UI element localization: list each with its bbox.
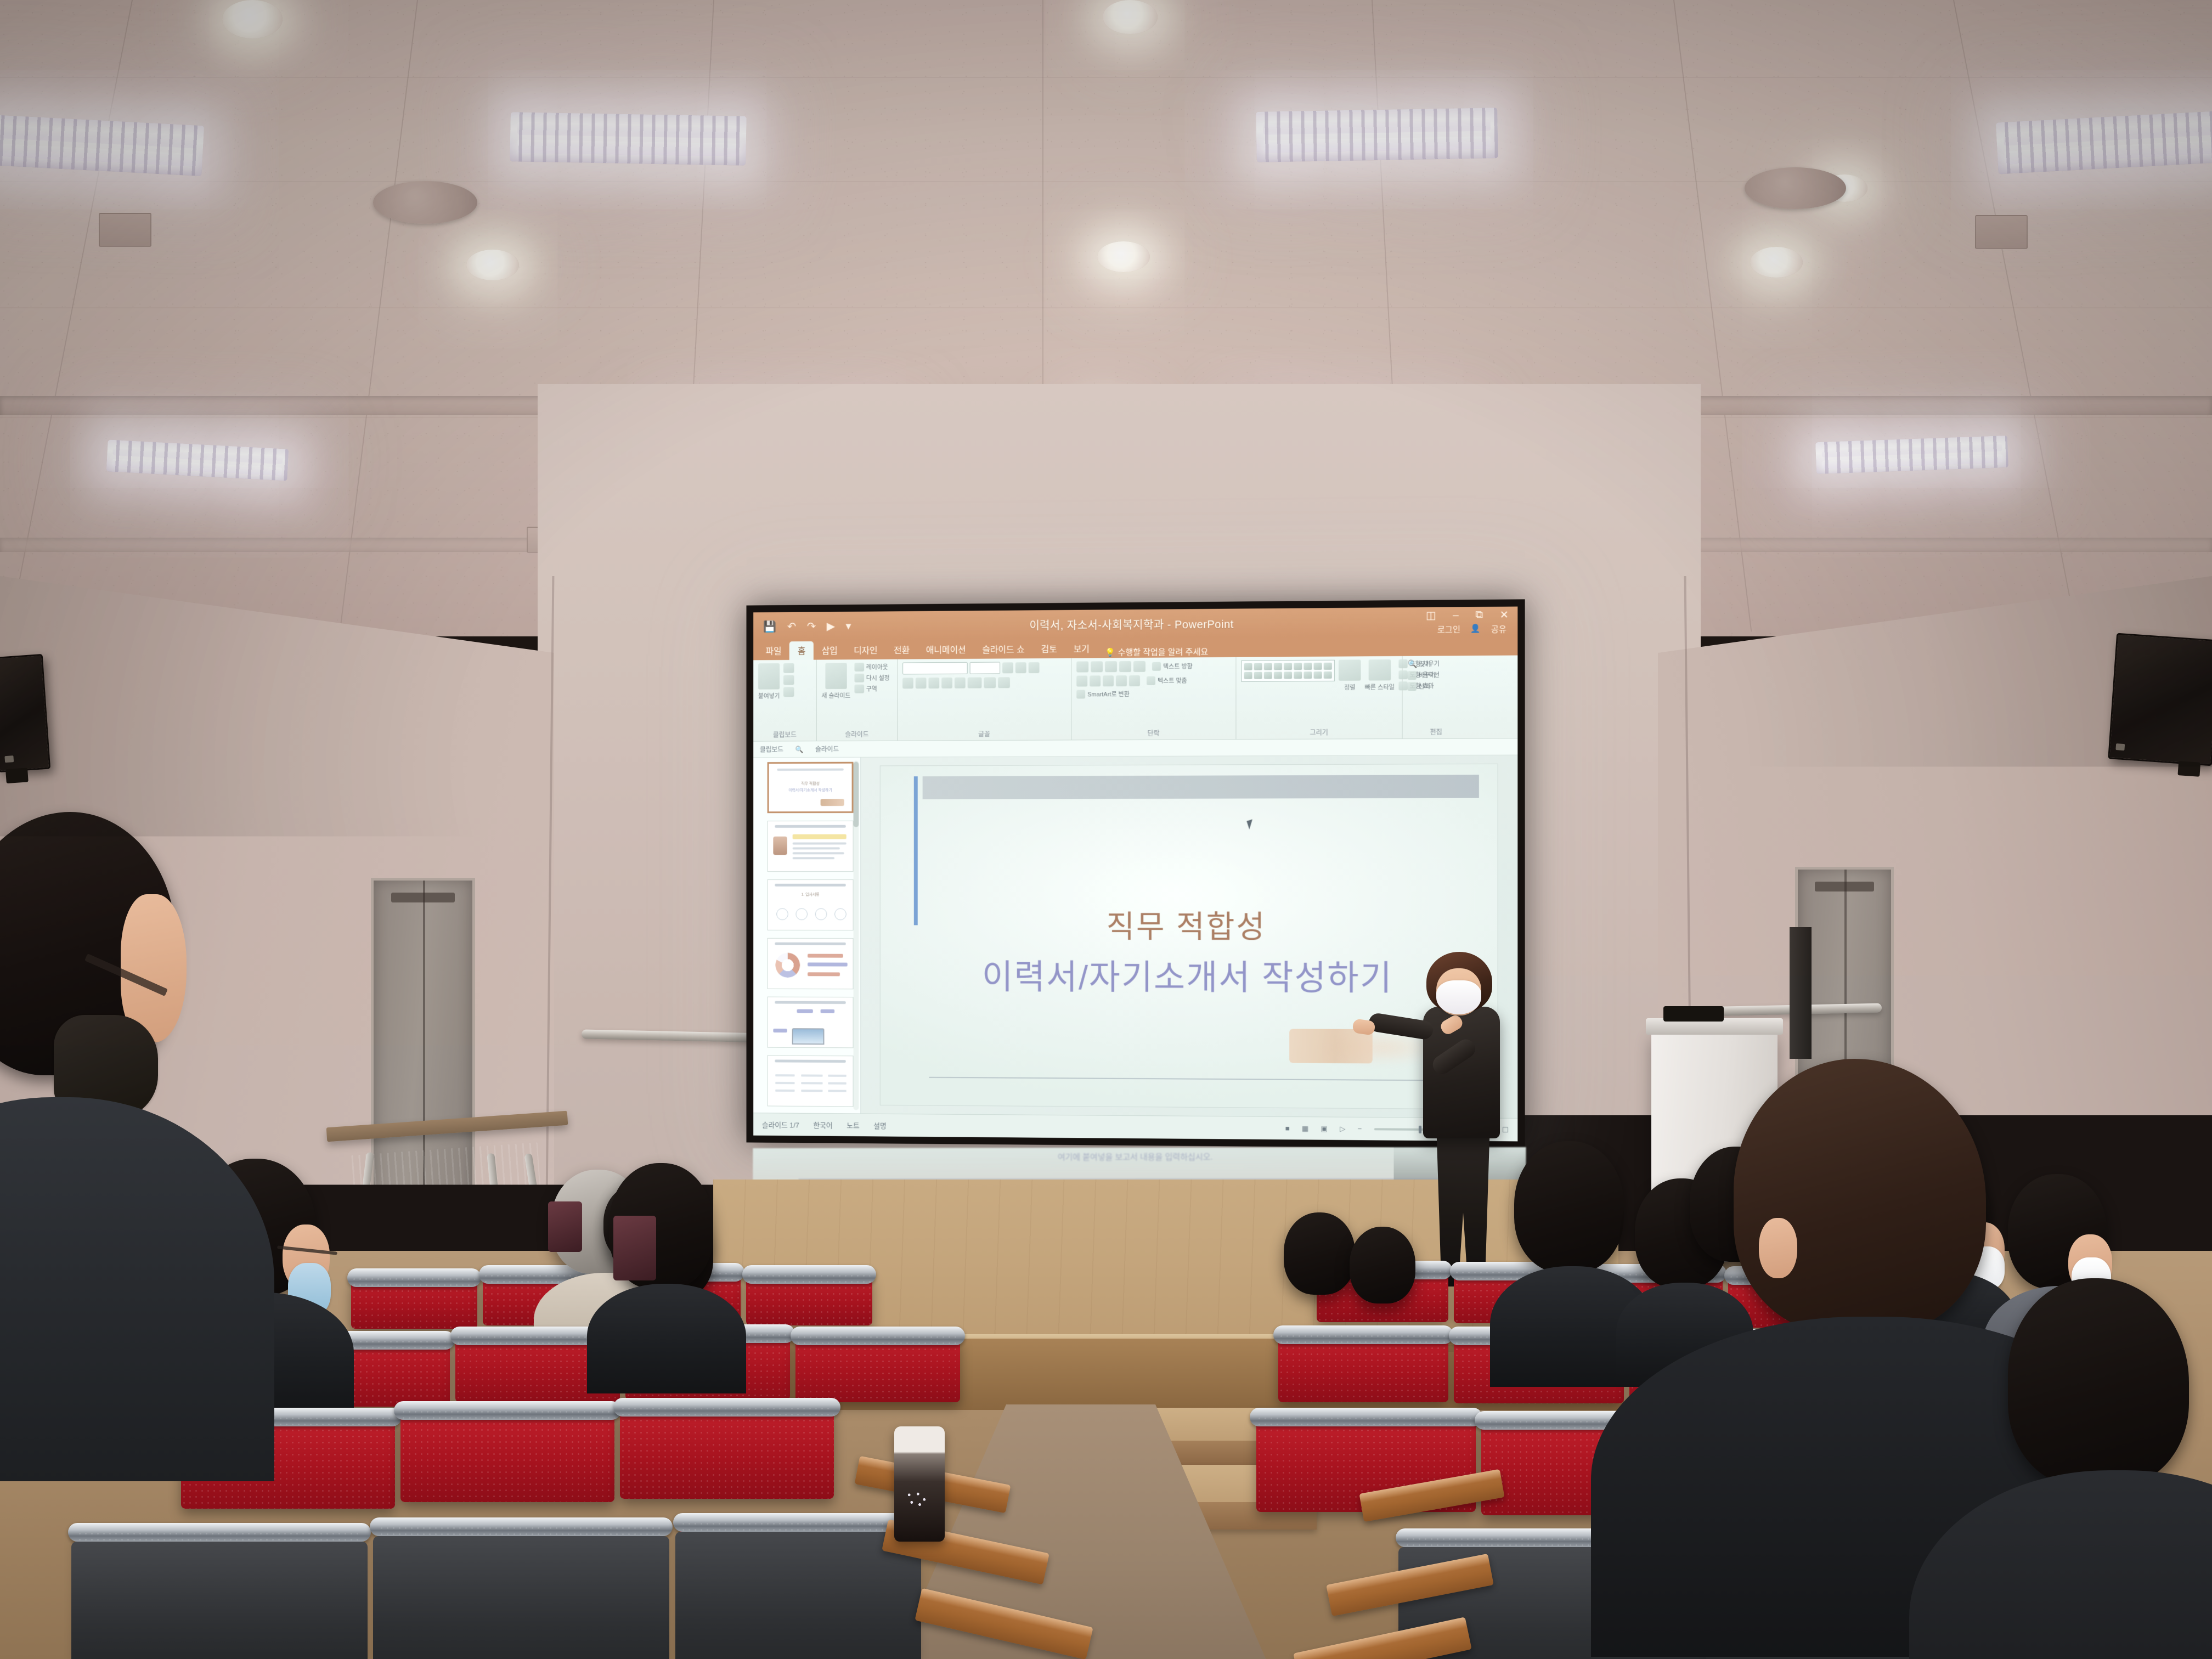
tab-review[interactable]: 검토 — [1033, 640, 1065, 658]
shape-chevron-icon[interactable] — [1264, 672, 1272, 679]
line-spacing-icon[interactable] — [1133, 661, 1145, 672]
decrease-font-size-icon[interactable] — [1015, 662, 1026, 673]
tab-transitions[interactable]: 전환 — [885, 641, 918, 659]
group-label-paragraph: 단락 — [1071, 728, 1235, 738]
tab-view[interactable]: 보기 — [1065, 639, 1098, 658]
seat[interactable] — [746, 1273, 872, 1325]
wall-speaker-left — [0, 654, 50, 772]
zoom-out-icon[interactable]: − — [1358, 1125, 1362, 1133]
powerpoint-workspace: 1 직무 적합성 이력서/자기소개서 작성하기 2 — [753, 755, 1517, 1118]
slide-title-text[interactable]: 직무 적합성 — [881, 901, 1498, 947]
section-icon[interactable] — [854, 685, 864, 693]
microphone-icon — [1663, 1006, 1724, 1022]
tab-slideshow[interactable]: 슬라이드 쇼 — [974, 640, 1032, 659]
seat[interactable] — [379, 1525, 664, 1659]
table-modesty-panel — [351, 1142, 540, 1204]
laptop-icon — [792, 1028, 825, 1045]
align-left-icon[interactable] — [1076, 675, 1087, 686]
justify-icon[interactable] — [1116, 675, 1127, 686]
increase-indent-icon[interactable] — [1119, 661, 1131, 672]
thumbnail-scrollbar-thumb[interactable] — [854, 762, 859, 827]
layout-icon[interactable] — [854, 663, 864, 672]
clipboard-strip: 클립보드 🔍 슬라이드 — [753, 738, 1517, 758]
donut-chart-icon — [775, 952, 800, 978]
cut-icon[interactable] — [783, 663, 794, 673]
wall-speaker-right — [2108, 633, 2212, 766]
change-case-icon[interactable] — [984, 677, 996, 688]
ribbon-display-icon[interactable]: ◫ — [1426, 610, 1436, 622]
paste-label: 붙여넣기 — [758, 691, 780, 700]
tell-me-placeholder: 수행할 작업을 알려 주세요 — [1118, 647, 1208, 657]
powerpoint-window: 💾 ↶ ↷ ▶ ▾ 이력서, 자소서-사회복지학과 - PowerPoint ◫… — [753, 607, 1517, 1142]
align-text-icon[interactable] — [1147, 676, 1155, 685]
slides-pane-label: 슬라이드 — [815, 744, 839, 754]
slide-header-band — [923, 775, 1479, 799]
slide-sorter-icon[interactable]: ▦ — [1302, 1124, 1308, 1133]
select-icon[interactable] — [1408, 682, 1417, 691]
underline-icon[interactable] — [928, 678, 939, 689]
find-label[interactable]: 찾기 — [1419, 659, 1431, 668]
speaker-bracket — [2177, 761, 2200, 777]
align-text-label: 텍스트 맞춤 — [1158, 676, 1187, 685]
group-label-clipboard: 클립보드 — [753, 730, 816, 739]
lightbulb-icon: 💡 — [1105, 648, 1116, 657]
speaker-led-indicator — [4, 755, 14, 763]
ceiling-speaker — [373, 181, 477, 224]
slide-thumbnail-4[interactable]: 4 — [768, 938, 854, 990]
ceiling-downlight — [466, 250, 519, 280]
shoulders — [587, 1284, 746, 1393]
strikethrough-icon[interactable] — [955, 678, 966, 689]
replace-label[interactable]: 바꾸기 — [1419, 671, 1436, 680]
group-label-font: 글꼴 — [898, 729, 1071, 738]
speaker-led-indicator — [2115, 743, 2125, 751]
presenter — [1404, 952, 1531, 1292]
table-caster — [487, 1228, 505, 1241]
close-icon[interactable]: ✕ — [1500, 609, 1509, 622]
shape-oval-icon[interactable] — [1294, 663, 1302, 670]
seat[interactable] — [680, 1521, 916, 1659]
comments-button[interactable]: 설명 — [873, 1120, 887, 1131]
ribbon-group-editing[interactable]: 🔍찾기 바꾸기 선택 편집 — [1403, 656, 1470, 738]
replace-icon[interactable] — [1408, 671, 1417, 680]
ceiling-downlight — [1097, 241, 1150, 272]
language-indicator[interactable]: 한국어 — [813, 1120, 832, 1130]
tab-animations[interactable]: 애니메이션 — [918, 640, 974, 659]
slide-thumbnail-pane[interactable]: 1 직무 적합성 이력서/자기소개서 작성하기 2 — [753, 758, 861, 1114]
clear-formatting-icon[interactable] — [1029, 662, 1040, 673]
columns-icon[interactable] — [1129, 675, 1140, 686]
shape-star-icon[interactable] — [1274, 672, 1282, 679]
slide-thumbnail-6[interactable]: 6 — [768, 1055, 854, 1107]
seat[interactable] — [795, 1334, 960, 1402]
ribbon-group-font[interactable]: 글꼴 — [898, 658, 1071, 741]
italic-icon[interactable] — [916, 678, 927, 689]
shape-line-icon[interactable] — [1264, 663, 1272, 670]
key-icon — [1289, 1029, 1373, 1063]
mouse-cursor-icon — [1247, 819, 1256, 830]
head — [1350, 1227, 1415, 1304]
shape-trapezoid-icon[interactable] — [1324, 663, 1332, 670]
ceiling-air-vent — [1975, 215, 2028, 249]
align-right-icon[interactable] — [1103, 675, 1114, 686]
section-label: 구역 — [866, 685, 877, 693]
arrange-label: 정렬 — [1344, 683, 1355, 692]
podium-support-post — [1790, 927, 1812, 1059]
head — [1284, 1212, 1355, 1295]
reading-view-icon[interactable]: ▣ — [1321, 1124, 1327, 1133]
key-icon — [821, 799, 844, 806]
shape-gallery[interactable] — [1241, 660, 1334, 682]
copy-icon[interactable] — [783, 675, 794, 685]
group-label-editing: 편집 — [1403, 727, 1470, 737]
ceiling-light-troffer — [1256, 108, 1498, 162]
restore-icon[interactable]: ⧉ — [1475, 609, 1483, 622]
shape-rect-icon[interactable] — [1244, 663, 1252, 670]
ceiling-speaker — [1745, 167, 1846, 209]
slide-indicator: 슬라이드 1/7 — [762, 1119, 799, 1130]
find-icon[interactable]: 🔍 — [1408, 659, 1418, 669]
align-center-icon[interactable] — [1090, 675, 1101, 686]
font-name-combobox[interactable] — [902, 662, 968, 675]
arrange-icon[interactable] — [1339, 659, 1361, 680]
portrait-photo-icon — [773, 837, 787, 855]
smartart-label: SmartArt로 변환 — [1087, 690, 1130, 698]
seat[interactable] — [1278, 1333, 1448, 1402]
slide-thumbnail-5[interactable]: 5 — [768, 997, 854, 1048]
shape-parallelogram-icon[interactable] — [1314, 663, 1322, 670]
shape-rounded-icon[interactable] — [1254, 663, 1262, 670]
ceiling-light-troffer — [1815, 436, 2008, 474]
minimize-icon[interactable]: ‒ — [1453, 609, 1459, 622]
increase-font-size-icon[interactable] — [1002, 662, 1013, 673]
reset-label: 다시 설정 — [866, 674, 890, 682]
ribbon[interactable]: 붙여넣기 클립보드 새 슬라이드 — [753, 656, 1517, 742]
hair-clip — [613, 1216, 656, 1280]
select-label[interactable]: 선택 — [1419, 682, 1430, 691]
reset-icon[interactable] — [854, 674, 864, 682]
text-direction-icon[interactable] — [1152, 662, 1161, 671]
powerpoint-title-bar: 💾 ↶ ↷ ▶ ▾ 이력서, 자소서-사회복지학과 - PowerPoint ◫… — [753, 607, 1517, 641]
ceiling-air-vent — [99, 213, 151, 247]
thumb-subtitle-text: 이력서/자기소개서 작성하기 — [769, 787, 852, 793]
paste-icon[interactable] — [758, 663, 780, 690]
numbering-icon[interactable] — [1091, 661, 1103, 672]
sign-in-label[interactable]: 로그인 — [1437, 624, 1460, 635]
slide-thumbnail-1[interactable]: 1 직무 적합성 이력서/자기소개서 작성하기 — [768, 762, 854, 814]
clipboard-pane-label: 클립보드 — [760, 744, 783, 754]
presenter-face-mask — [1436, 980, 1481, 1014]
water-bottle[interactable] — [894, 1426, 945, 1542]
share-icon[interactable]: 👤 — [1470, 623, 1481, 635]
ceiling-downlight — [1103, 0, 1158, 34]
account-area[interactable]: 로그인 👤 공유 — [1437, 623, 1506, 635]
ear — [1759, 1218, 1797, 1278]
shape-square-icon[interactable] — [1284, 663, 1292, 670]
seat[interactable] — [400, 1409, 614, 1502]
table-caster — [528, 1229, 547, 1242]
ribbon-group-drawing[interactable]: 정렬 빠른 스타일 도형 채우기 도형 윤곽선 도형 효과 그리기 — [1236, 656, 1402, 739]
font-size-combobox[interactable] — [970, 662, 1000, 674]
new-slide-label: 새 슬라이드 — [822, 691, 851, 700]
normal-view-icon[interactable]: ■ — [1285, 1124, 1290, 1132]
bottle-decal — [904, 1491, 929, 1510]
shape-arrow-icon[interactable] — [1274, 663, 1282, 670]
tab-insert[interactable]: 삽입 — [814, 641, 845, 660]
shape-callout-icon[interactable] — [1284, 672, 1292, 679]
text-direction-label: 텍스트 방향 — [1163, 662, 1193, 670]
slide-footer-rule — [929, 1077, 1447, 1081]
layout-label: 레이아웃 — [866, 663, 888, 672]
shape-more-icon[interactable] — [1324, 672, 1332, 679]
seat[interactable] — [620, 1406, 834, 1499]
ribbon-group-clipboard[interactable]: 붙여넣기 클립보드 — [753, 660, 817, 741]
shape-cloud-icon[interactable] — [1294, 672, 1302, 679]
tell-me-search[interactable]: 💡 수행할 작업을 알려 주세요 — [1098, 646, 1208, 658]
bullets-icon[interactable] — [1076, 661, 1088, 672]
notes-button[interactable]: 노트 — [847, 1120, 860, 1130]
share-label[interactable]: 공유 — [1491, 623, 1506, 635]
ceiling-downlight — [1750, 247, 1803, 278]
head — [1514, 1141, 1624, 1273]
slide-thumbnail-3[interactable]: 3 1. 입사서류 — [768, 879, 854, 930]
quick-styles-label: 빠른 스타일 — [1365, 682, 1395, 691]
shape-triangle-icon[interactable] — [1304, 663, 1312, 670]
folding-table — [326, 1119, 568, 1245]
shape-heart-icon[interactable] — [1304, 672, 1312, 679]
head — [2008, 1278, 2189, 1487]
seat[interactable] — [351, 1276, 477, 1329]
shape-curve-icon[interactable] — [1314, 672, 1322, 679]
photo-canvas: 💾 ↶ ↷ ▶ ▾ 이력서, 자소서-사회복지학과 - PowerPoint ◫… — [0, 0, 2212, 1659]
ceiling-downlight — [222, 0, 283, 38]
ceiling-light-troffer — [510, 112, 747, 165]
seat[interactable] — [77, 1531, 362, 1659]
bold-icon[interactable] — [902, 678, 913, 689]
ribbon-group-paragraph[interactable]: 텍스트 방향 텍스트 맞춤 — [1071, 657, 1236, 740]
font-color-icon[interactable] — [998, 677, 1010, 688]
window-controls[interactable]: ◫ ‒ ⧉ ✕ — [1426, 609, 1509, 622]
shape-hexagon-icon[interactable] — [1254, 672, 1262, 679]
slide-thumbnail-2[interactable]: 2 — [768, 821, 854, 872]
quick-styles-icon[interactable] — [1368, 659, 1391, 681]
format-painter-icon[interactable] — [783, 687, 794, 697]
new-slide-icon[interactable] — [825, 663, 847, 689]
ribbon-group-slides[interactable]: 새 슬라이드 레이아웃 다시 설정 구역 슬라이드 — [817, 659, 898, 741]
character-spacing-icon[interactable] — [968, 678, 982, 689]
search-icon[interactable]: 🔍 — [795, 746, 804, 753]
powerpoint-status-bar[interactable]: 슬라이드 1/7 한국어 노트 설명 ■ ▦ ▣ ▷ − + 66% ☐ — [753, 1113, 1517, 1141]
window-title: 이력서, 자소서-사회복지학과 - PowerPoint — [753, 613, 1517, 634]
thumb-title-text: 직무 적합성 — [769, 781, 852, 786]
hair-clip — [548, 1201, 582, 1252]
group-label-drawing: 그리기 — [1236, 727, 1402, 737]
speaker-bracket — [5, 768, 29, 783]
tab-file[interactable]: 파일 — [758, 641, 789, 660]
text-shadow-icon[interactable] — [941, 678, 952, 689]
shape-pentagon-icon[interactable] — [1244, 672, 1252, 679]
smartart-icon[interactable] — [1076, 690, 1085, 698]
tab-home[interactable]: 홈 — [789, 641, 814, 660]
group-label-slides: 슬라이드 — [817, 730, 898, 739]
decrease-indent-icon[interactable] — [1105, 661, 1117, 672]
thumb-caption: 1. 입사서류 — [768, 892, 853, 898]
tab-design[interactable]: 디자인 — [845, 641, 885, 659]
slideshow-icon[interactable]: ▷ — [1340, 1124, 1345, 1133]
